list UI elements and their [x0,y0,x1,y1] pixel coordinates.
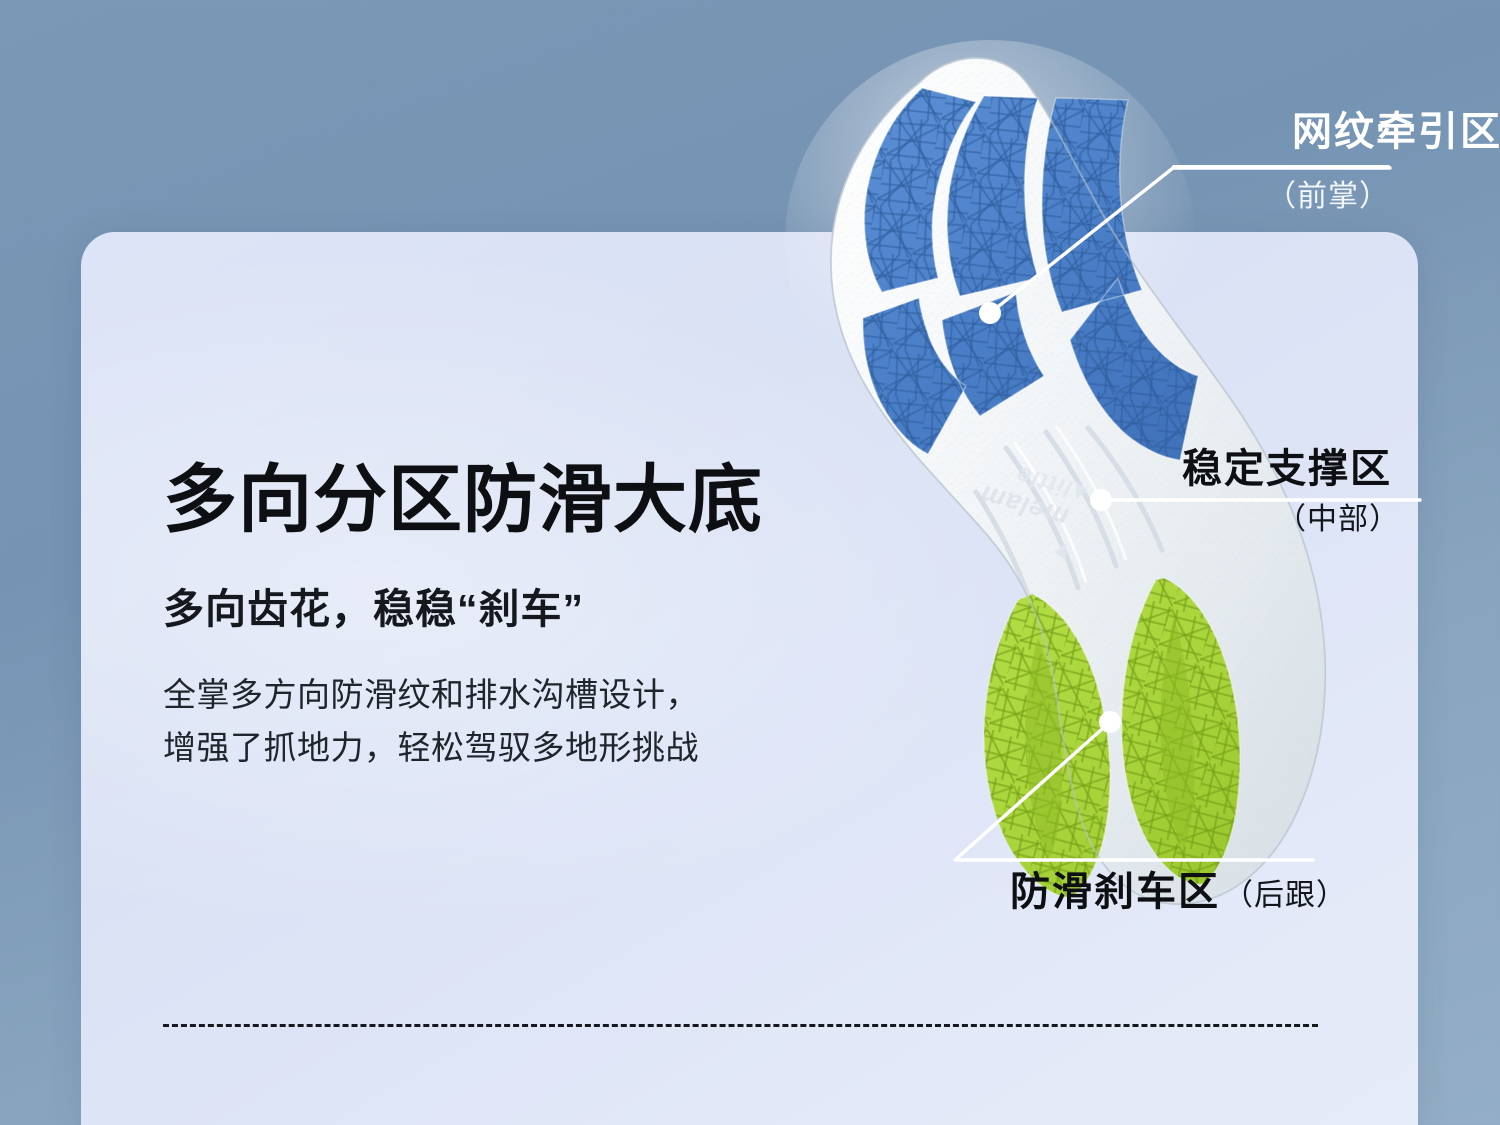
callout-forefoot-underline [1172,165,1390,168]
callout-forefoot-title: 网纹牵引区 [1172,112,1500,152]
callout-forefoot: 网纹牵引区 （前掌） [1172,112,1500,212]
page-title: 多向分区防滑大底 [163,462,883,537]
hero-body-line-1: 全掌多方向防滑纹和排水沟槽设计， [163,668,883,721]
callout-midfoot: 稳定支撑区 （中部） [1182,449,1500,535]
hero-body-line-2: 增强了抓地力，轻松驾驭多地形挑战 [163,721,883,774]
callout-midfoot-subtitle: （中部） [1182,505,1400,535]
callout-midfoot-title: 稳定支撑区 [1182,449,1500,489]
callout-heel-subtitle: （后跟） [1223,881,1347,911]
hero-subheadline: 多向齿花，稳稳“刹车” [163,587,883,632]
hero-body-copy: 全掌多方向防滑纹和排水沟槽设计， 增强了抓地力，轻松驾驭多地形挑战 [163,668,883,775]
footer-divider [163,1024,1318,1027]
callout-forefoot-subtitle: （前掌） [1172,182,1390,212]
callout-heel: 防滑刹车区 （后跟） [1010,872,1347,912]
callout-heel-title: 防滑刹车区 [1010,872,1220,912]
hero-text-block: 多向分区防滑大底 多向齿花，稳稳“刹车” 全掌多方向防滑纹和排水沟槽设计， 增强… [163,412,883,775]
poster-stage: melam little [0,0,1500,1125]
